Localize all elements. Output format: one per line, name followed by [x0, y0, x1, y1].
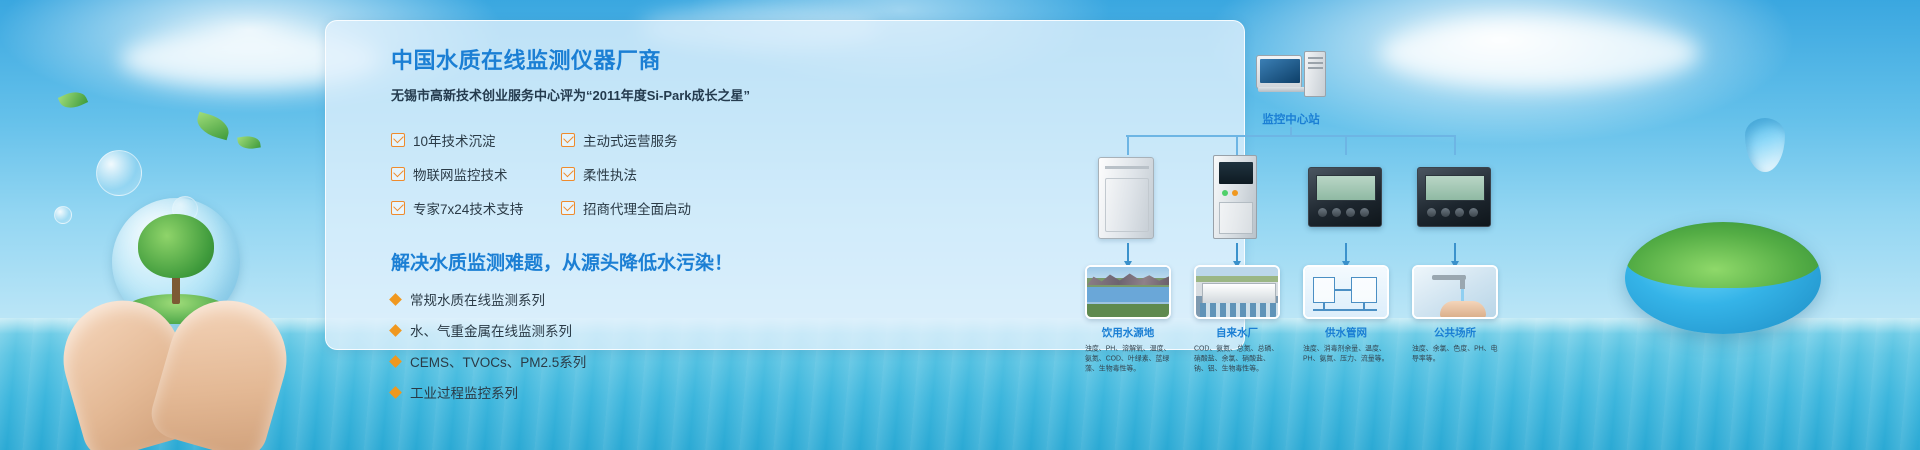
checkbox-icon	[561, 133, 575, 147]
device-controller-meter-b	[1411, 155, 1497, 241]
list-item: 常规水质在线监测系列	[391, 289, 751, 309]
content-panel: 中国水质在线监测仪器厂商 无锡市高新技术创业服务中心评为“2011年度Si-Pa…	[325, 20, 1245, 350]
checkbox-icon	[391, 167, 405, 181]
scene-cell: 自来水厂 COD、氨氮、总氮、总磷、硝酸盐、余氯、硝酸盐、钠、铝、生物毒性等。	[1194, 265, 1280, 377]
diamond-bullet-icon	[389, 386, 402, 399]
diamond-bullet-icon	[389, 324, 402, 337]
computer-tower	[1304, 51, 1326, 97]
list-item: 工业过程监控系列	[391, 382, 751, 402]
scene-cell: 供水管网 浊度、消毒剂余量、温度、PH、氨氮、压力、流量等。	[1303, 265, 1389, 366]
river-landscape-photo	[1085, 265, 1171, 319]
product-label: CEMS、TVOCs、PM2.5系列	[410, 351, 586, 371]
tree-foliage	[138, 214, 214, 278]
feature-item: 专家7x24技术支持	[391, 198, 561, 218]
connector-bus	[1126, 135, 1456, 137]
scene-description: 浊度、消毒剂余量、温度、PH、氨氮、压力、流量等。	[1303, 344, 1391, 364]
page-title: 中国水质在线监测仪器厂商	[391, 43, 751, 75]
device-controller-meter-a	[1302, 155, 1388, 241]
earth-landmass	[1625, 222, 1821, 288]
server-computer-icon	[1256, 51, 1328, 103]
system-topology-diagram: 监控中心站	[1081, 43, 1551, 343]
connector-drop	[1454, 137, 1456, 155]
connector-drop	[1127, 137, 1129, 155]
arrow-down-icon	[1454, 243, 1456, 261]
scene-name: 自来水厂	[1194, 325, 1280, 340]
arrow-down-icon	[1236, 243, 1238, 261]
hands-holding-tree-illustration	[60, 190, 290, 450]
device-sampling-cabinet	[1193, 155, 1279, 241]
monitor-body	[1256, 55, 1302, 89]
product-label: 常规水质在线监测系列	[410, 289, 545, 309]
diamond-bullet-icon	[389, 293, 402, 306]
promotional-banner: 中国水质在线监测仪器厂商 无锡市高新技术创业服务中心评为“2011年度Si-Pa…	[0, 0, 1920, 450]
checkbox-icon	[561, 167, 575, 181]
checkbox-icon	[391, 201, 405, 215]
diamond-bullet-icon	[389, 355, 402, 368]
controller-meter-icon	[1417, 167, 1491, 227]
connector-drop	[1236, 137, 1238, 155]
controller-meter-icon	[1308, 167, 1382, 227]
monitor-screen	[1260, 59, 1300, 83]
feature-item: 招商代理全面启动	[561, 198, 731, 218]
feature-label: 柔性执法	[583, 164, 637, 184]
sampling-cabinet-icon	[1213, 155, 1257, 239]
center-station-label: 监控中心站	[1221, 111, 1361, 127]
product-list: 常规水质在线监测系列 水、气重金属在线监测系列 CEMS、TVOCs、PM2.5…	[391, 289, 751, 402]
tap-water-hand-photo	[1412, 265, 1498, 319]
water-treatment-plant-photo	[1194, 265, 1280, 319]
section-heading: 解决水质监测难题，从源头降低水污染！	[391, 248, 751, 275]
list-item: 水、气重金属在线监测系列	[391, 320, 751, 340]
scene-cell: 公共场所 浊度、余氯、色度、PH、电导率等。	[1412, 265, 1498, 366]
scene-name: 饮用水源地	[1085, 325, 1171, 340]
feature-label: 10年技术沉淀	[413, 130, 496, 150]
device-water-analyzer-cabinet	[1084, 155, 1170, 241]
page-subtitle: 无锡市高新技术创业服务中心评为“2011年度Si-Park成长之星”	[391, 85, 751, 104]
water-analyzer-cabinet-icon	[1098, 157, 1154, 239]
scene-description: 浊度、PH、溶解氧、温度、氨氮、COD、叶绿素、蓝绿藻、生物毒性等。	[1085, 344, 1173, 374]
scene-description: COD、氨氮、总氮、总磷、硝酸盐、余氯、硝酸盐、钠、铝、生物毒性等。	[1194, 344, 1282, 374]
list-item: CEMS、TVOCs、PM2.5系列	[391, 351, 751, 371]
feature-item: 10年技术沉淀	[391, 130, 561, 150]
feature-item: 物联网监控技术	[391, 164, 561, 184]
panel-text-column: 中国水质在线监测仪器厂商 无锡市高新技术创业服务中心评为“2011年度Si-Pa…	[391, 43, 751, 413]
feature-label: 招商代理全面启动	[583, 198, 691, 218]
scene-name: 公共场所	[1412, 325, 1498, 340]
arrow-down-icon	[1127, 243, 1129, 261]
feature-label: 专家7x24技术支持	[413, 198, 523, 218]
product-label: 工业过程监控系列	[410, 382, 518, 402]
feature-label: 主动式运营服务	[583, 130, 678, 150]
scene-description: 浊度、余氯、色度、PH、电导率等。	[1412, 344, 1500, 364]
feature-item: 柔性执法	[561, 164, 731, 184]
arrow-down-icon	[1345, 243, 1347, 261]
scene-cell: 饮用水源地 浊度、PH、溶解氧、温度、氨氮、COD、叶绿素、蓝绿藻、生物毒性等。	[1085, 265, 1171, 377]
pipe-network-diagram-photo	[1303, 265, 1389, 319]
feature-item: 主动式运营服务	[561, 130, 731, 150]
checkbox-icon	[561, 201, 575, 215]
green-earth-illustration	[1625, 222, 1821, 334]
product-label: 水、气重金属在线监测系列	[410, 320, 572, 340]
checkbox-icon	[391, 133, 405, 147]
scene-name: 供水管网	[1303, 325, 1389, 340]
monitor-base	[1258, 87, 1306, 92]
feature-list: 10年技术沉淀 主动式运营服务 物联网监控技术 柔性执法 专家7x24技术支持	[391, 130, 751, 218]
connector-drop	[1345, 137, 1347, 155]
feature-label: 物联网监控技术	[413, 164, 508, 184]
